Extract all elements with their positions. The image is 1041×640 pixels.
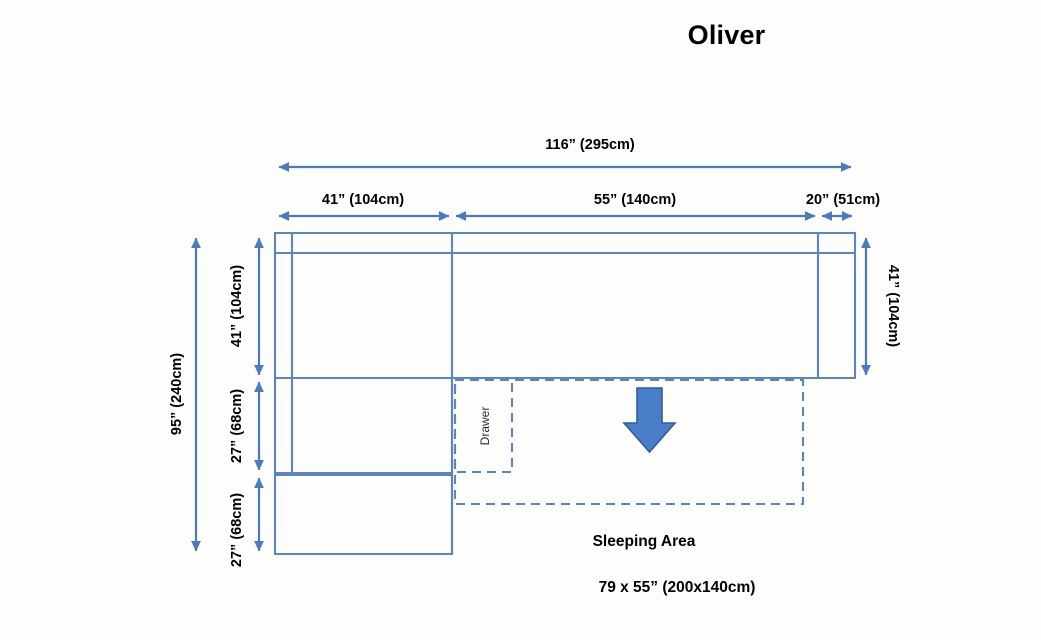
sofa-outline [275,233,855,554]
right-dimensions: 41” (104cm) [866,238,901,375]
fold-out-arrow-icon [624,388,675,452]
sleeping-area-size: 79 x 55” (200x140cm) [599,579,756,596]
segment-right-label: 20” (51cm) [806,192,880,208]
floor-plan-svg: Drawer 116” (295cm) 41” (104cm) 55” (140… [0,0,1041,640]
overall-width-label: 116” (295cm) [545,137,635,153]
depth-middle-label: 27” (68cm) [229,389,245,463]
segment-middle-label: 55” (140cm) [594,192,676,208]
chaise-bottom-section [275,475,452,554]
right-height-label: 41” (104cm) [885,265,901,347]
top-dimensions: 116” (295cm) 41” (104cm) 55” (140cm) 20”… [279,137,880,216]
left-dimensions: 95” (240cm) 41” (104cm) 27” (68cm) 27” (… [169,238,259,567]
sleeping-area-title: Sleeping Area [593,533,696,550]
page-title-text: Oliver [688,20,766,50]
segment-left-label: 41” (104cm) [322,192,404,208]
depth-bottom-label: 27” (68cm) [229,493,245,567]
depth-top-label: 41” (104cm) [229,265,245,347]
page-title: Oliver [0,20,1041,51]
sofa-body-outer [275,233,855,378]
sleeping-area-outline [455,380,803,504]
chaise-middle-section [275,378,452,473]
overall-depth-label: 95” (240cm) [169,353,185,435]
furniture-diagram: Oliver [0,0,1041,640]
sleeping-area-region: Drawer [455,380,803,504]
drawer-label: Drawer [478,407,492,446]
